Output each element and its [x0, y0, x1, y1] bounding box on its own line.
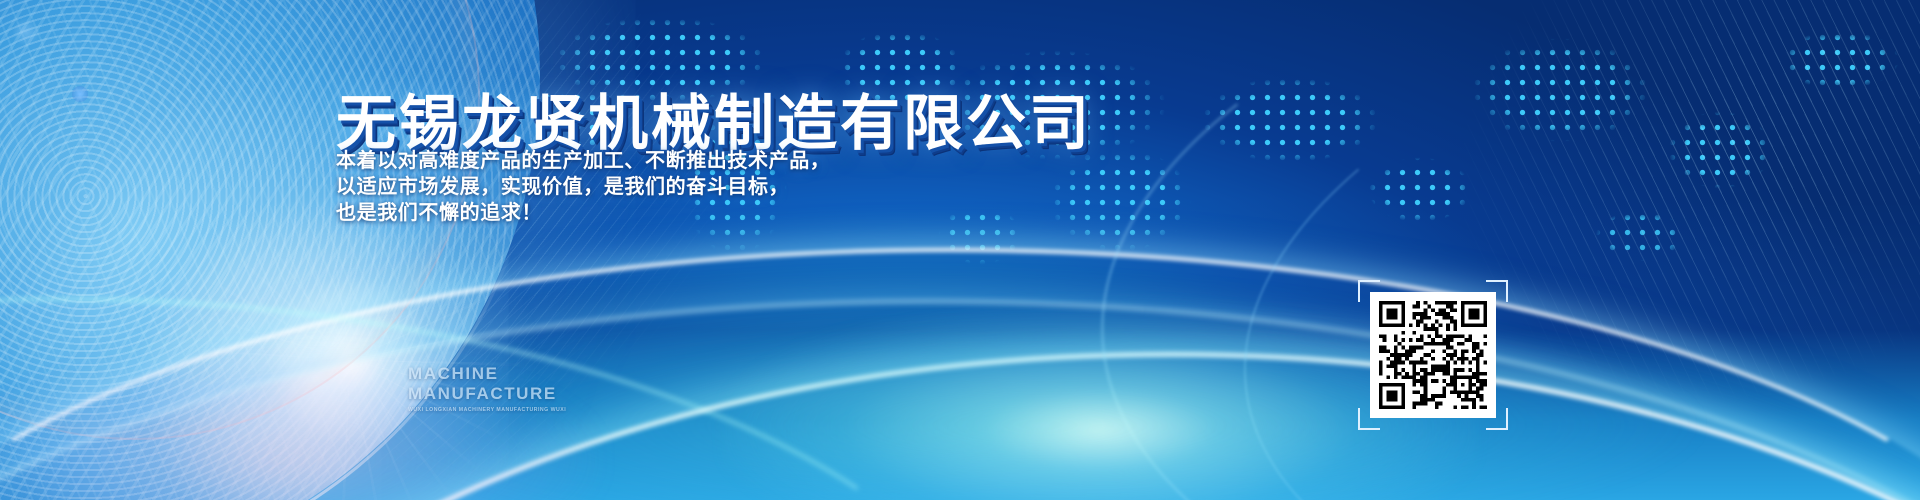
- qr-code-canvas: [1379, 301, 1487, 409]
- company-banner: 无锡龙贤机械制造有限公司 本着以对高难度产品的生产加工、不断推出技术产品， 以适…: [0, 0, 1920, 500]
- company-slogan: 本着以对高难度产品的生产加工、不断推出技术产品， 以适应市场发展，实现价值，是我…: [336, 148, 830, 226]
- qr-code-image[interactable]: [1370, 292, 1496, 418]
- english-line-manufacture: MANUFACTURE: [408, 384, 566, 404]
- english-line-machine: MACHINE: [408, 364, 566, 384]
- slogan-line-2: 以适应市场发展，实现价值，是我们的奋斗目标，: [336, 174, 830, 200]
- english-wordmark: MACHINE MANUFACTURE WUXI LONGXIAN MACHIN…: [408, 364, 566, 413]
- slogan-line-1: 本着以对高难度产品的生产加工、不断推出技术产品，: [336, 148, 830, 174]
- qr-code-block[interactable]: [1358, 280, 1508, 430]
- slogan-line-3: 也是我们不懈的追求！: [336, 200, 830, 226]
- english-line-fineprint: WUXI LONGXIAN MACHINERY MANUFACTURING WU…: [408, 407, 566, 413]
